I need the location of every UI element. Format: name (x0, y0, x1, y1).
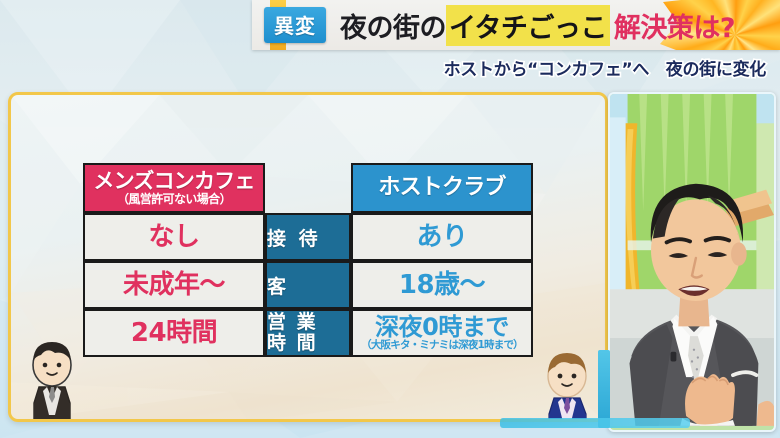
comparison-table: メンズコンカフェ （風営許可ない場合） ホストクラブ なし 接 待 あり (83, 163, 533, 357)
bottom-accent-bar (500, 418, 690, 428)
row-0-label: 接 待 (267, 224, 349, 251)
row-1-label-cell: 客 (265, 261, 351, 309)
table-row: なし 接 待 あり (83, 213, 533, 261)
header-right-title: ホストクラブ (353, 177, 531, 199)
title-bar: 異変 夜の街の イタチごっこ 解決策は? (252, 0, 780, 50)
header-left-title: メンズコンカフェ (85, 171, 263, 192)
comparison-panel: メンズコンカフェ （風営許可ない場合） ホストクラブ なし 接 待 あり (8, 92, 608, 422)
mascot-man-in-blue-suit (539, 347, 595, 422)
mascot-man-in-dark-suit (25, 337, 79, 422)
headline: 夜の街の イタチごっこ 解決策は? (340, 5, 735, 46)
row-1-right-cell: 18歳〜 (351, 261, 533, 309)
row-2-label-cell: 営 業 時 間 (265, 309, 351, 357)
header-cell-left: メンズコンカフェ （風営許可ない場合） (83, 163, 265, 213)
studio-video-inset (608, 92, 776, 432)
row-2-left-value: 24時間 (85, 320, 263, 346)
row-0-right-value: あり (353, 224, 531, 250)
subtitle-text: ホストから“コンカフェ”へ 夜の街に変化 (444, 55, 766, 80)
subtitle-bar: ホストから“コンカフェ”へ 夜の街に変化 (252, 50, 780, 84)
row-0-right-cell: あり (351, 213, 533, 261)
row-2-right-subvalue: （大阪キタ・ミナミは深夜1時まで） (353, 340, 531, 351)
header-cell-spacer (265, 163, 351, 213)
row-0-left-value: なし (85, 224, 263, 250)
inset-side-accent (598, 350, 610, 428)
row-1-left-cell: 未成年〜 (83, 261, 265, 309)
headline-highlight: イタチごっこ (446, 5, 610, 46)
commentator-person (610, 94, 774, 426)
row-1-left-value: 未成年〜 (85, 272, 263, 298)
row-2-right-cell: 深夜0時まで （大阪キタ・ミナミは深夜1時まで） (351, 309, 533, 357)
topic-badge: 異変 (264, 7, 326, 43)
headline-part2: 解決策は? (614, 6, 735, 45)
table-row: 未成年〜 客 18歳〜 (83, 261, 533, 309)
row-1-right-value: 18歳〜 (353, 272, 531, 298)
row-0-left-cell: なし (83, 213, 265, 261)
row-2-label-line2: 時 間 (267, 333, 349, 354)
row-2-left-cell: 24時間 (83, 309, 265, 357)
row-1-label: 客 (267, 272, 349, 299)
header-cell-right: ホストクラブ (351, 163, 533, 213)
row-2-right-value: 深夜0時まで (353, 315, 531, 339)
row-2-label-line1: 営 業 (267, 312, 349, 333)
table-row: 24時間 営 業 時 間 深夜0時まで （大阪キタ・ミナミは深夜1時まで） (83, 309, 533, 357)
table-header-row: メンズコンカフェ （風営許可ない場合） ホストクラブ (83, 163, 533, 213)
headline-part1: 夜の街の (340, 6, 446, 45)
row-0-label-cell: 接 待 (265, 213, 351, 261)
header-left-subtitle: （風営許可ない場合） (85, 193, 263, 205)
